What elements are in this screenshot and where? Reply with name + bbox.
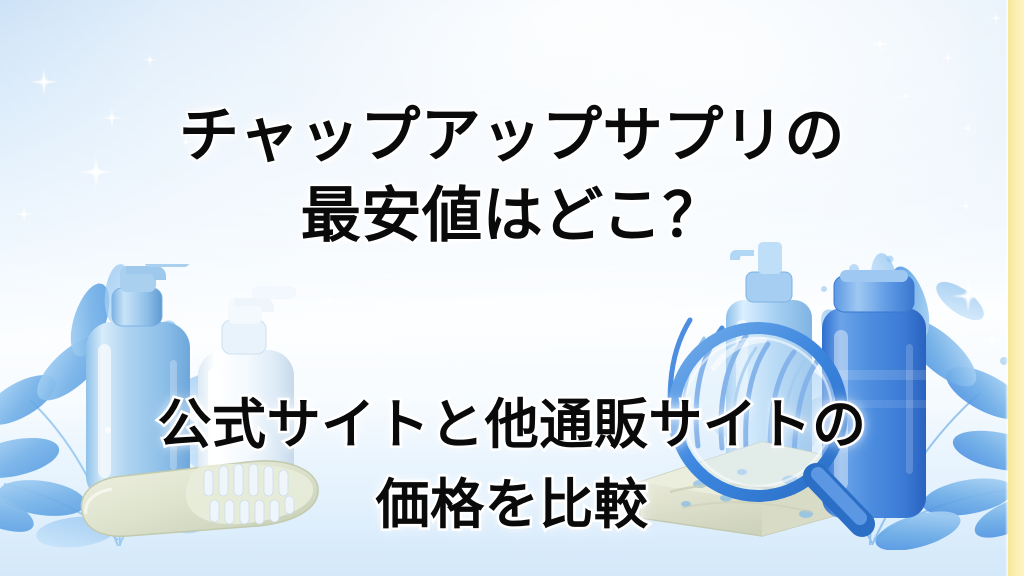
headline-text: チャップアップサプリの 最安値はどこ？ (0, 96, 1024, 257)
subheadline-text: 公式サイトと他通販サイトの 価格を比較 (0, 386, 1024, 546)
promo-banner: チャップアップサプリの 最安値はどこ？ 公式サイトと他通販サイトの 価格を比較 (0, 0, 1024, 576)
